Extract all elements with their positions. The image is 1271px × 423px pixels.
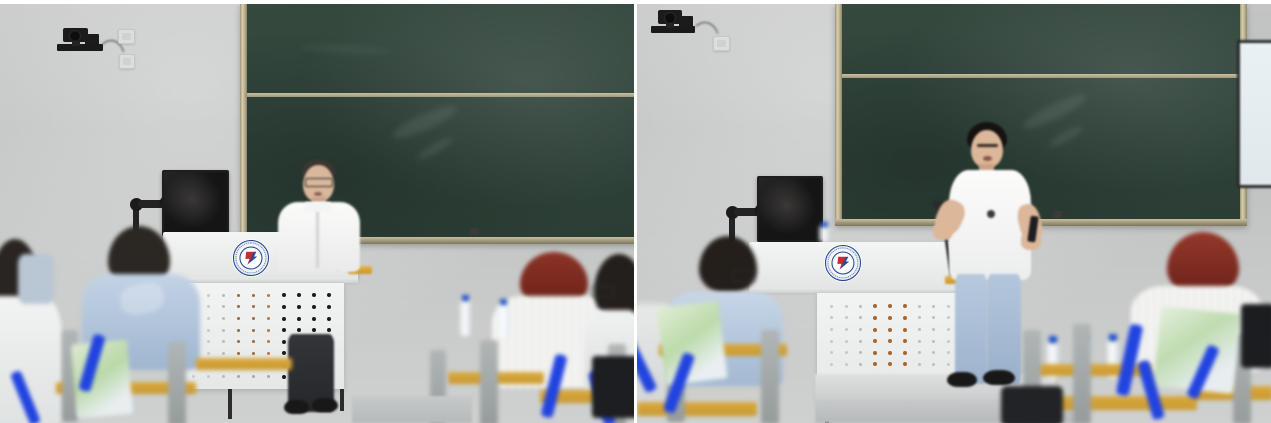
bottle-cap [1049,336,1057,343]
presenter-jeans-right [987,274,1021,384]
lecture-desk [637,402,757,416]
chalkboard-mid-rail [240,93,634,97]
camera-lens-icon [69,30,81,42]
presenter-glasses-icon [305,178,333,187]
photo-panel-right [637,4,1271,423]
chalkboard-frame-left [835,4,842,226]
attendee-glasses-icon [733,270,755,282]
university-emblem [825,245,861,281]
monitor-screen-reflection [759,178,821,240]
chalkboard-frame-left [240,4,247,244]
projection-screen [1237,40,1271,188]
monitor-screen-reflection [164,172,227,234]
bottle-cap [1109,334,1117,341]
outlet-face [123,58,131,65]
water-bottle [460,300,471,336]
chalkboard-clip [1053,211,1062,218]
presenter-mouth [983,156,992,161]
backpack [1001,386,1063,423]
water-bottle [498,304,509,338]
presenter-shoe-right [312,398,338,412]
podium-leg [228,389,232,419]
podium-desktop [749,242,977,290]
presenter-shoe-right [983,370,1015,385]
presenter-jeans-left [955,274,987,384]
chalkboard [835,4,1247,226]
presenter-head [971,130,1003,168]
attendee-bag-dark [592,356,634,418]
lecture-seat-back [168,342,186,423]
presenter-mouth [314,192,322,196]
presenter-shirt [278,202,360,272]
lecture-seat-back [480,340,498,423]
outlet-face [122,33,131,40]
presenter-tshirt-logo [987,210,995,218]
presenter-shoe-left [284,400,309,414]
lecture-desk [196,358,292,370]
presenter-hand-left [933,222,953,240]
bottle-cap [500,299,507,305]
attendee-glasses-icon [592,286,614,297]
camera-side-block [679,16,693,27]
bottle-cap [462,295,469,301]
podium-monitor [757,176,823,242]
camera-side-block [85,34,99,45]
presenter-shoe-left [947,372,977,387]
bottle-cap [821,222,828,227]
presenter-collar [305,202,331,212]
university-emblem [233,240,269,276]
wall-outlet-upper [713,36,730,51]
wall-outlet-upper [118,29,135,44]
water-bottle [819,226,829,242]
chalkboard-mid-rail [835,74,1247,78]
floor [352,396,472,423]
camera-lens-icon [664,12,676,24]
podium-monitor [162,170,229,236]
lecture-seat-back [1073,324,1091,423]
presenter-eyes [977,144,998,147]
wall-outlet-lower [119,54,135,69]
podium-leg [340,389,344,411]
chalkboard-clip [470,228,479,235]
photo-pair-figure [0,0,1271,423]
attendee-bag-dark [1241,304,1271,368]
lecture-seat-back [761,330,779,423]
attendee-shoulder-shadow [18,254,54,304]
outlet-face [717,40,726,47]
presenter-shirt-placket [316,206,319,268]
conference-tote-bag [656,301,727,386]
photo-panel-left [0,4,634,423]
